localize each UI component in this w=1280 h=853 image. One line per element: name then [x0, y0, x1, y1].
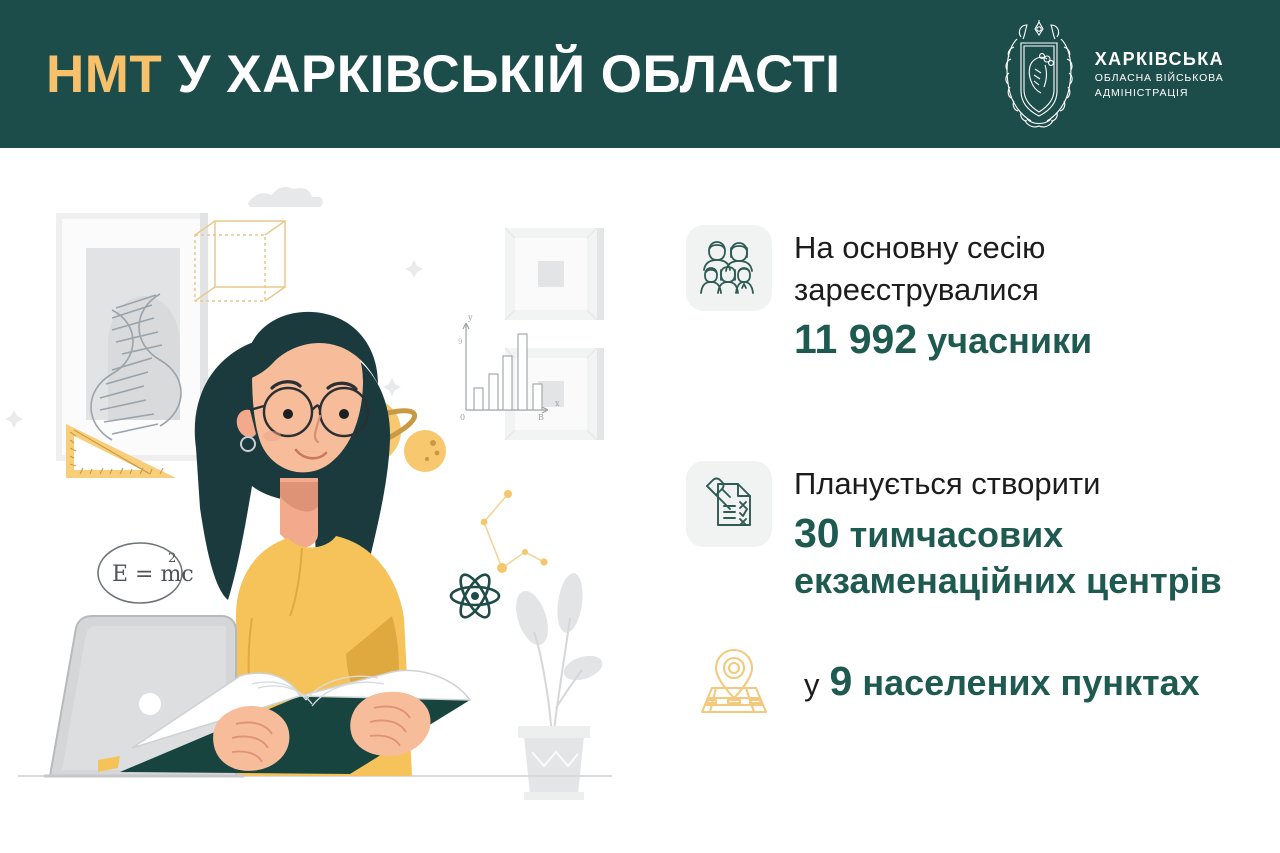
fact-participants-value: 11 992 учасники	[794, 314, 1246, 365]
chart-origin-label: 0	[460, 413, 465, 422]
fact-settlements: у 9 населених пунктах	[686, 638, 1246, 724]
eye-left	[283, 409, 293, 419]
brand-line-3: АДМІНІСТРАЦІЯ	[1095, 87, 1224, 100]
facts-column: На основну сесію зареєструвалися 11 992 …	[686, 225, 1246, 724]
fact-centers-number: 30	[794, 510, 840, 556]
potted-plant-icon	[510, 572, 605, 800]
fact-centers-text: Планується створити 30 тимчасових екзаме…	[794, 461, 1246, 604]
fact-centers-lead: Планується створити	[794, 463, 1246, 505]
page-title: НМТ У ХАРКІВСЬКІЙ ОБЛАСТІ	[46, 48, 841, 101]
infographic-page: НМТ У ХАРКІВСЬКІЙ ОБЛАСТІ	[0, 0, 1280, 853]
illustration-canvas: y x 0 B 9	[0, 148, 660, 853]
fact-participants-unit: учасники	[927, 320, 1092, 361]
constellation-icon	[481, 490, 548, 573]
fact-settlements-unit: населених пунктах	[862, 662, 1199, 703]
wireframe-cube-icon	[195, 221, 285, 301]
atom-symbol-icon	[451, 571, 499, 622]
formula-bubble: E = mc 2	[98, 543, 194, 603]
fact-centers: Планується створити 30 тимчасових екзаме…	[686, 461, 1246, 604]
svg-text:9: 9	[458, 338, 462, 346]
chart-point-b-label: B	[538, 413, 544, 422]
fact-settlements-number: 9	[830, 658, 853, 704]
brand-line-1: ХАРКІВСЬКА	[1095, 48, 1224, 71]
group-of-people-icon	[686, 225, 772, 311]
formula-exponent: 2	[168, 551, 176, 566]
fact-centers-value: 30 тимчасових екзаменаційних центрів	[794, 508, 1246, 603]
picture-frame-upper	[505, 228, 604, 320]
fact-settlements-text: у 9 населених пунктах	[804, 654, 1200, 707]
map-pin-icon	[686, 638, 782, 724]
brand-text: ХАРКІВСЬКА ОБЛАСНА ВІЙСЬКОВА АДМІНІСТРАЦ…	[1095, 48, 1224, 101]
fact-centers-unit: тимчасових екзаменаційних центрів	[794, 514, 1222, 601]
fact-participants: На основну сесію зареєструвалися 11 992 …	[686, 225, 1246, 365]
chart-axis-x-label: x	[555, 399, 560, 408]
page-title-accent: НМТ	[46, 45, 162, 104]
formula-text: E = mc	[112, 562, 194, 587]
page-header: НМТ У ХАРКІВСЬКІЙ ОБЛАСТІ	[0, 0, 1280, 148]
framed-dna-poster	[56, 213, 208, 461]
brand-lockup: ХАРКІВСЬКА ОБЛАСНА ВІЙСЬКОВА АДМІНІСТРАЦ…	[997, 19, 1224, 129]
eye-right	[339, 409, 349, 419]
document-with-pencil-icon	[686, 461, 772, 547]
laptop-logo	[139, 693, 161, 715]
hand-right	[350, 692, 430, 756]
fact-participants-text: На основну сесію зареєструвалися 11 992 …	[794, 225, 1246, 365]
page-title-rest: У ХАРКІВСЬКІЙ ОБЛАСТІ	[178, 45, 841, 104]
fact-settlements-value: у 9 населених пунктах	[804, 656, 1200, 707]
fact-settlements-prefix: у	[804, 667, 820, 702]
student-illustration: y x 0 B 9	[0, 148, 660, 853]
small-planet-icon	[404, 430, 446, 472]
fact-participants-number: 11 992	[794, 316, 917, 362]
chart-axis-y-label: y	[467, 313, 473, 322]
kharkiv-oblast-coat-of-arms-icon	[997, 19, 1081, 129]
brand-line-2: ОБЛАСНА ВІЙСЬКОВА	[1095, 72, 1224, 85]
fact-participants-lead: На основну сесію зареєструвалися	[794, 227, 1246, 310]
